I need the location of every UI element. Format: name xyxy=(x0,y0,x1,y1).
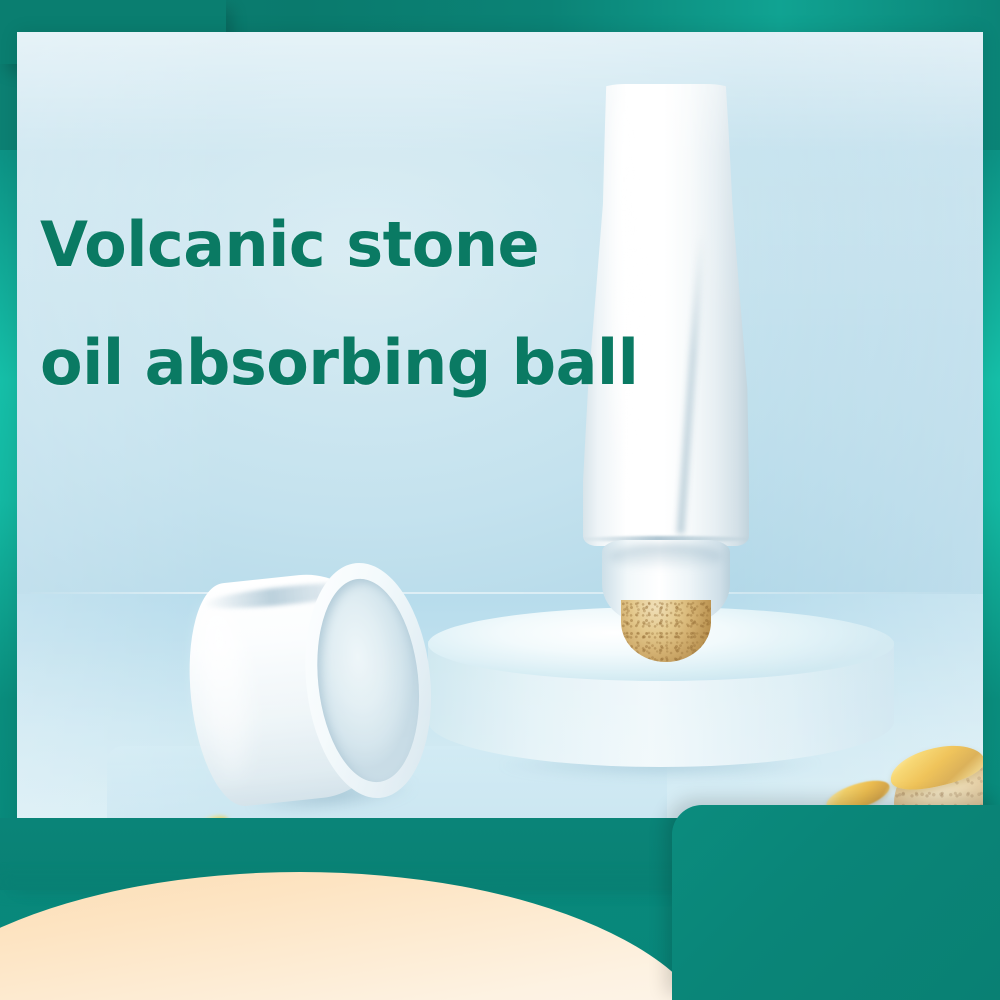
bottom-right-teal-corner-block xyxy=(672,805,1000,1000)
volcanic-stone-ball-tip xyxy=(621,600,711,662)
product-photo xyxy=(17,32,983,889)
device-cap xyxy=(172,547,460,835)
device-collar-shadow xyxy=(609,544,723,570)
headline-line-1: Volcanic stone xyxy=(40,186,660,304)
page-title: Volcanic stone oil absorbing ball xyxy=(40,186,660,422)
scene-horizon-line xyxy=(17,592,983,594)
headline-line-2: oil absorbing ball xyxy=(40,304,660,422)
product-poster: Volcanic stone oil absorbing ball xyxy=(0,0,1000,1000)
